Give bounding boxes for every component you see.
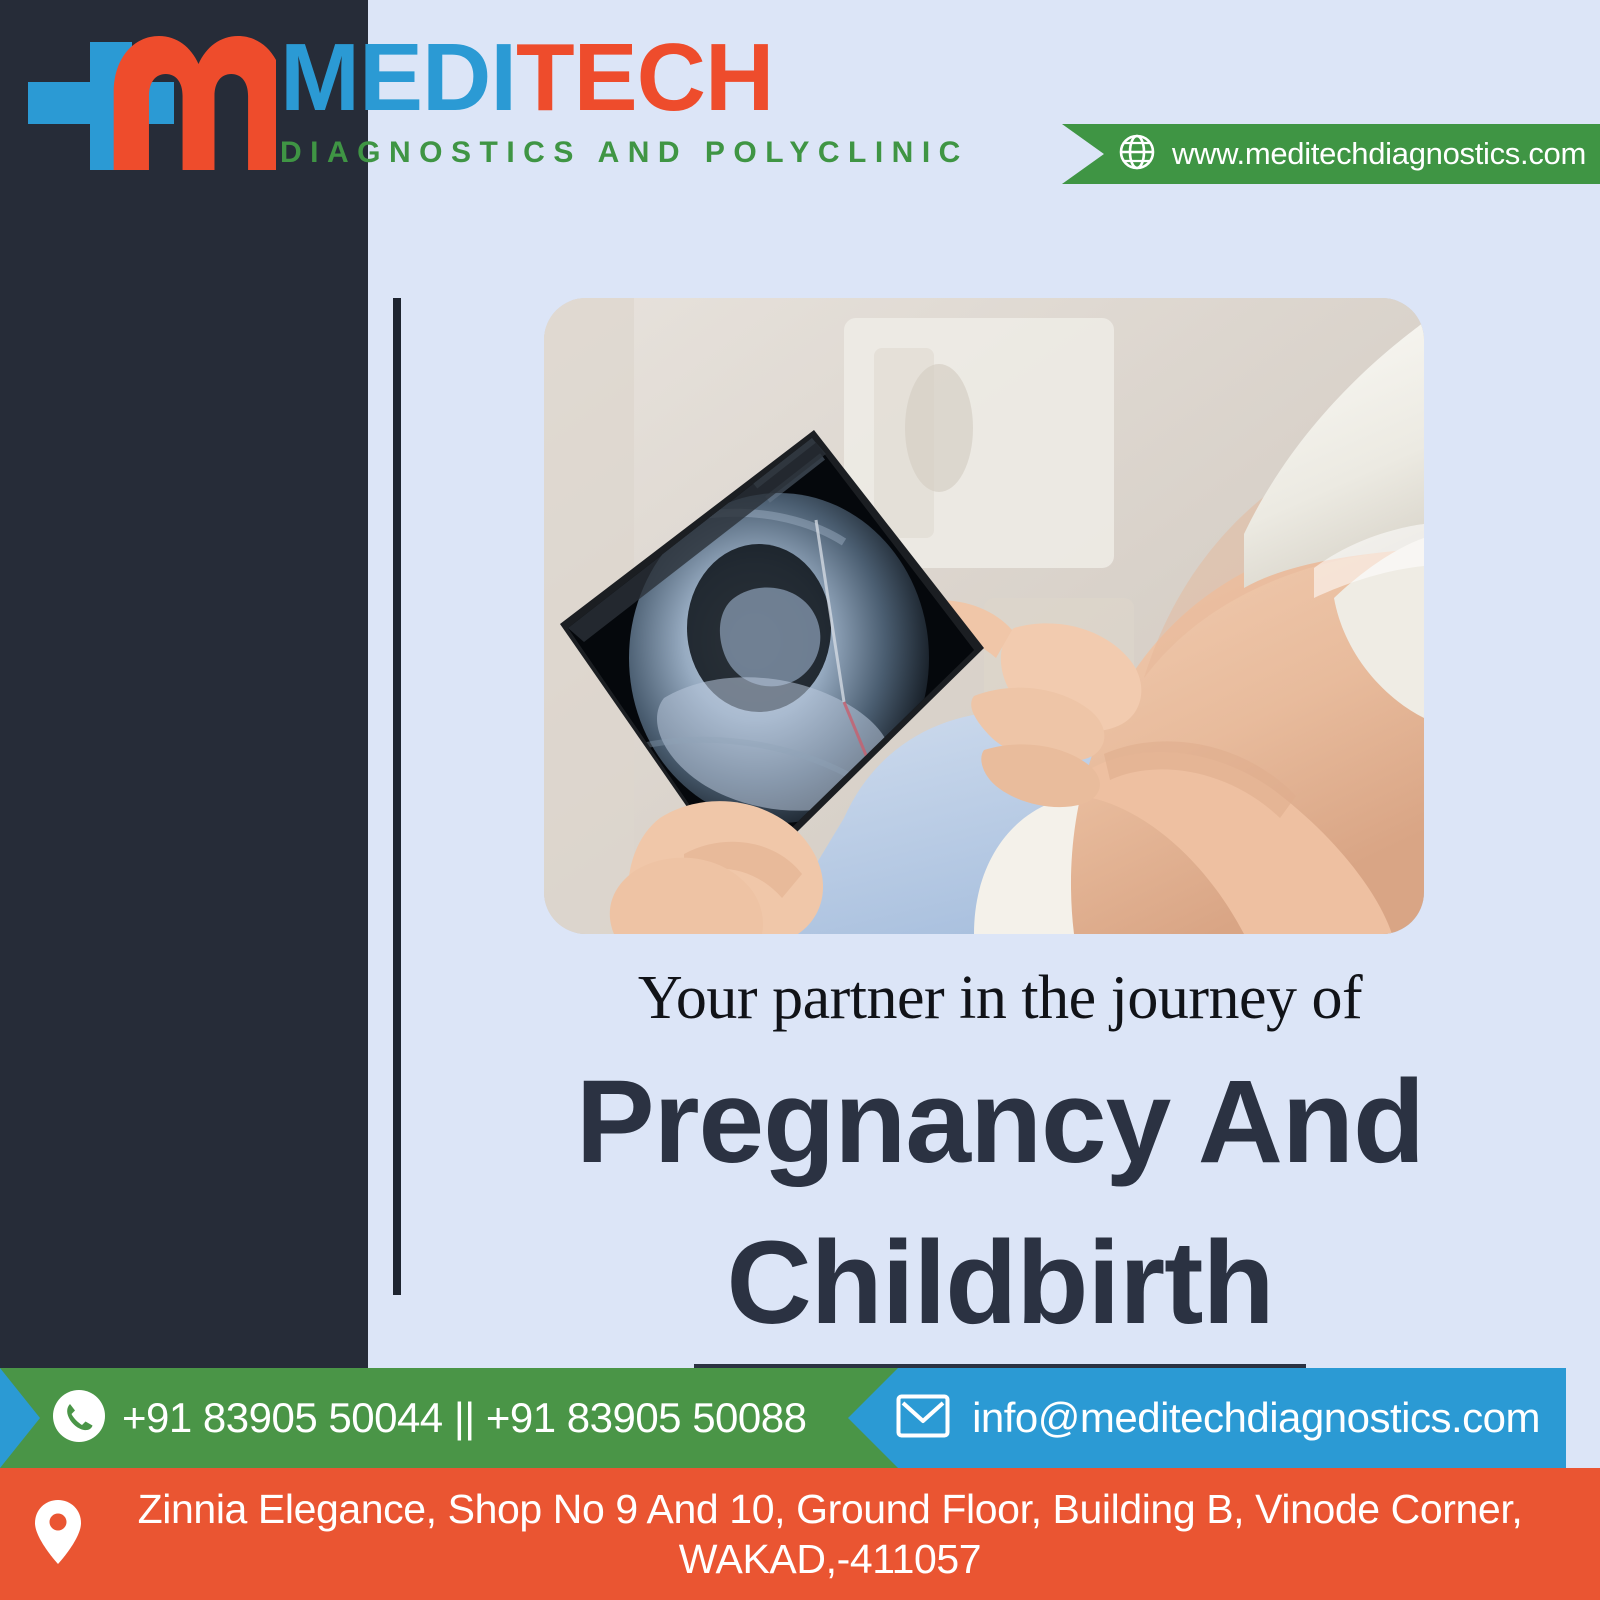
headline-line-1: Pregnancy And: [410, 1053, 1590, 1192]
brand-tagline: DIAGNOSTICS AND POLYCLINIC: [280, 138, 969, 168]
vertical-accent-rule: [393, 298, 401, 1295]
headline-line-2: Childbirth: [410, 1214, 1590, 1353]
headline-block: Your partner in the journey of Pregnancy…: [410, 966, 1590, 1375]
phone-numbers: +91 83905 50044 || +91 83905 50088: [122, 1394, 807, 1442]
brand-name: MEDITECH: [280, 30, 969, 126]
envelope-icon: [896, 1394, 950, 1443]
website-ribbon[interactable]: www.meditechdiagnostics.com: [1062, 124, 1600, 184]
email-address: info@meditechdiagnostics.com: [972, 1394, 1540, 1442]
globe-icon: [1118, 133, 1156, 176]
phone-bar[interactable]: +91 83905 50044 || +91 83905 50088: [0, 1368, 898, 1468]
headline-kicker: Your partner in the journey of: [410, 966, 1590, 1031]
brand-name-medi: MEDI: [280, 24, 516, 131]
address-text: Zinnia Elegance, Shop No 9 And 10, Groun…: [100, 1484, 1560, 1584]
location-pin-icon: [34, 1498, 82, 1571]
brand-name-tech: TECH: [516, 24, 773, 131]
address-bar: Zinnia Elegance, Shop No 9 And 10, Groun…: [0, 1468, 1600, 1600]
contact-strip: info@meditechdiagnostics.com +91 83905 5…: [0, 1368, 1600, 1468]
plus-m-logo-icon: [28, 20, 276, 180]
phone-icon: [52, 1389, 106, 1448]
website-url: www.meditechdiagnostics.com: [1172, 136, 1586, 172]
brand-wordmark: MEDITECH DIAGNOSTICS AND POLYCLINIC: [280, 20, 969, 168]
left-dark-panel: [0, 0, 368, 1432]
email-row: info@meditechdiagnostics.com: [896, 1394, 1540, 1443]
poster-canvas: MEDITECH DIAGNOSTICS AND POLYCLINIC www.…: [0, 0, 1600, 1600]
hero-photo: [544, 298, 1424, 934]
brand-logo: MEDITECH DIAGNOSTICS AND POLYCLINIC: [28, 20, 969, 180]
